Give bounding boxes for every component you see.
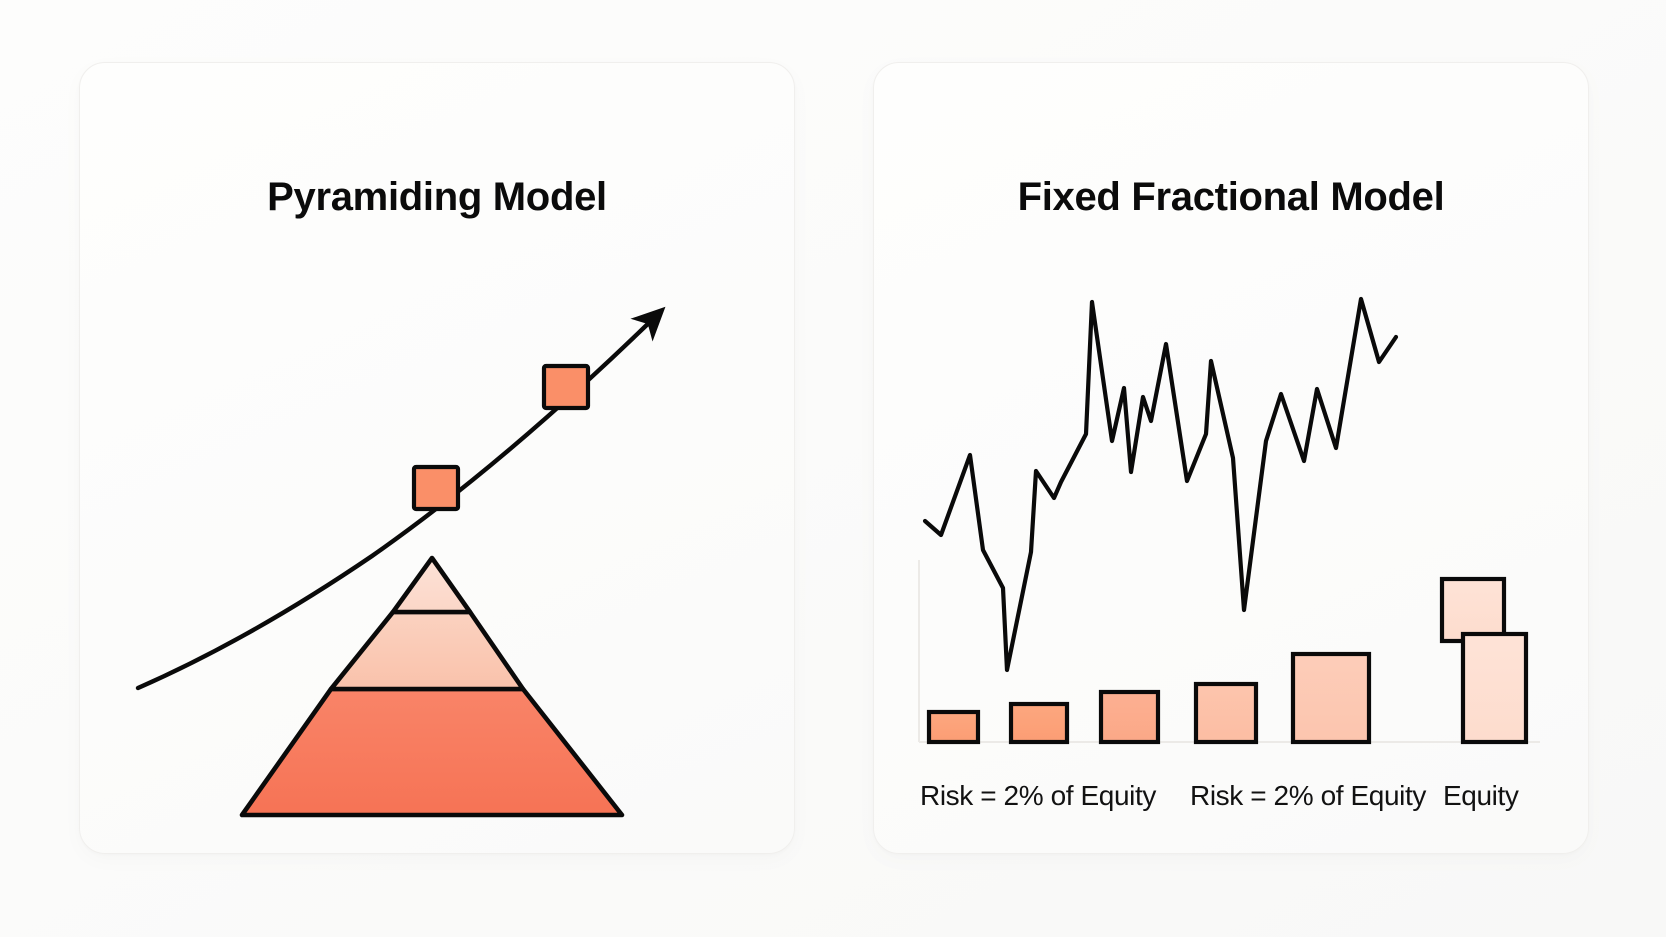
equity-block-top bbox=[1442, 579, 1504, 641]
position-bar-2 bbox=[1011, 704, 1067, 742]
page-root: Pyramiding Model bbox=[0, 0, 1666, 937]
bar-label-risk-2: Risk = 2% of Equity bbox=[1190, 780, 1426, 812]
position-bar-4 bbox=[1196, 684, 1256, 742]
bar-label-equity: Equity bbox=[1443, 780, 1518, 812]
position-bar-1 bbox=[929, 712, 978, 742]
equity-curve-line bbox=[925, 299, 1396, 670]
equity-block-main bbox=[1463, 634, 1526, 742]
position-bar-5 bbox=[1293, 654, 1369, 742]
position-bar-3 bbox=[1101, 692, 1158, 742]
bar-label-risk-1: Risk = 2% of Equity bbox=[920, 780, 1156, 812]
